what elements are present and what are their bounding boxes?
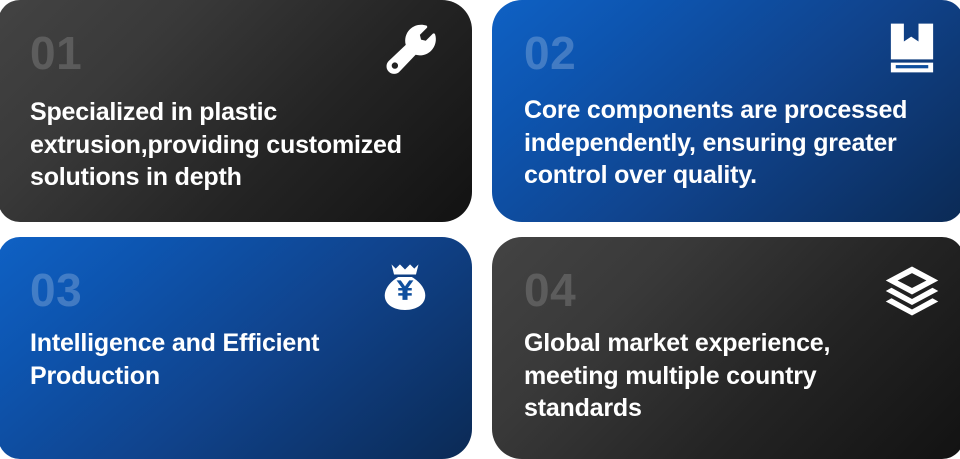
card-heading-04: Global market experience, meeting multip… — [524, 327, 924, 425]
card-heading-01: Specialized in plastic extrusion,providi… — [30, 96, 442, 194]
card-number-02: 02 — [524, 30, 934, 76]
wrench-icon — [382, 22, 440, 80]
feature-card-grid: 01 Specialized in plastic extrusion,prov… — [0, 0, 960, 459]
card-number-01: 01 — [30, 30, 442, 76]
layers-stack-icon — [884, 263, 940, 319]
feature-card-02[interactable]: 02 Core components are processed indepen… — [492, 0, 960, 222]
book-bookmark-icon — [886, 22, 938, 74]
money-bag-yen-icon — [378, 261, 432, 315]
card-heading-03: Intelligence and Efficient Production — [30, 327, 430, 392]
card-number-04: 04 — [524, 267, 934, 313]
feature-card-01[interactable]: 01 Specialized in plastic extrusion,prov… — [0, 0, 472, 222]
feature-card-03[interactable]: 03 Intelligence and Efficient Production — [0, 237, 472, 459]
feature-card-04[interactable]: 04 Global market experience, meeting mul… — [492, 237, 960, 459]
card-heading-02: Core components are processed independen… — [524, 94, 934, 192]
